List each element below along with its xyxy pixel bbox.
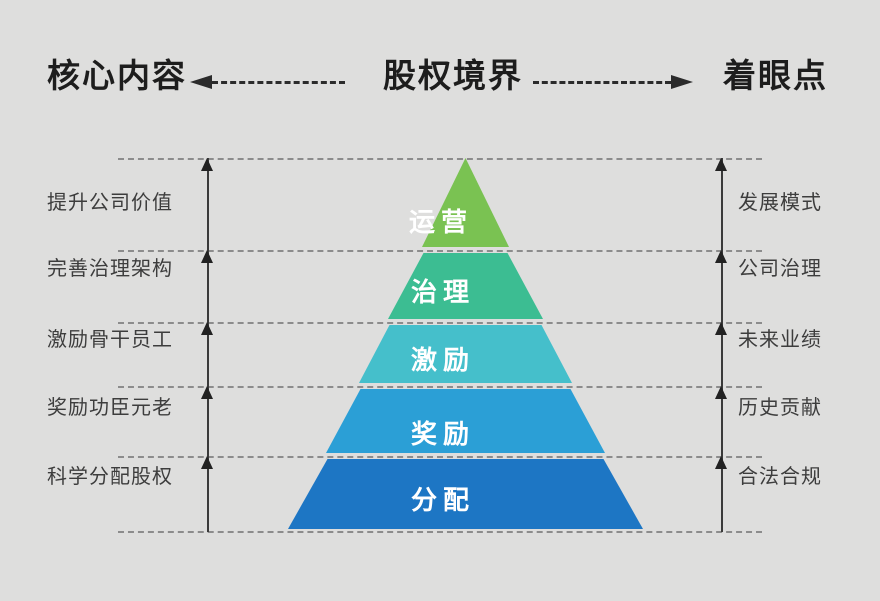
pyramid-tier-4-shape[interactable] xyxy=(326,389,605,453)
pyramid-tier-1-shape[interactable] xyxy=(422,158,509,247)
pyramid-shape-group xyxy=(0,0,880,601)
pyramid-tier-2-shape[interactable] xyxy=(388,253,543,319)
pyramid-diagram-canvas: 核心内容 股权境界 着眼点 提升公司价值 完善治理架构 激励骨干员工 奖励功臣元… xyxy=(0,0,880,601)
pyramid-tier-3-shape[interactable] xyxy=(359,325,572,383)
pyramid-tier-5-shape[interactable] xyxy=(288,459,643,529)
